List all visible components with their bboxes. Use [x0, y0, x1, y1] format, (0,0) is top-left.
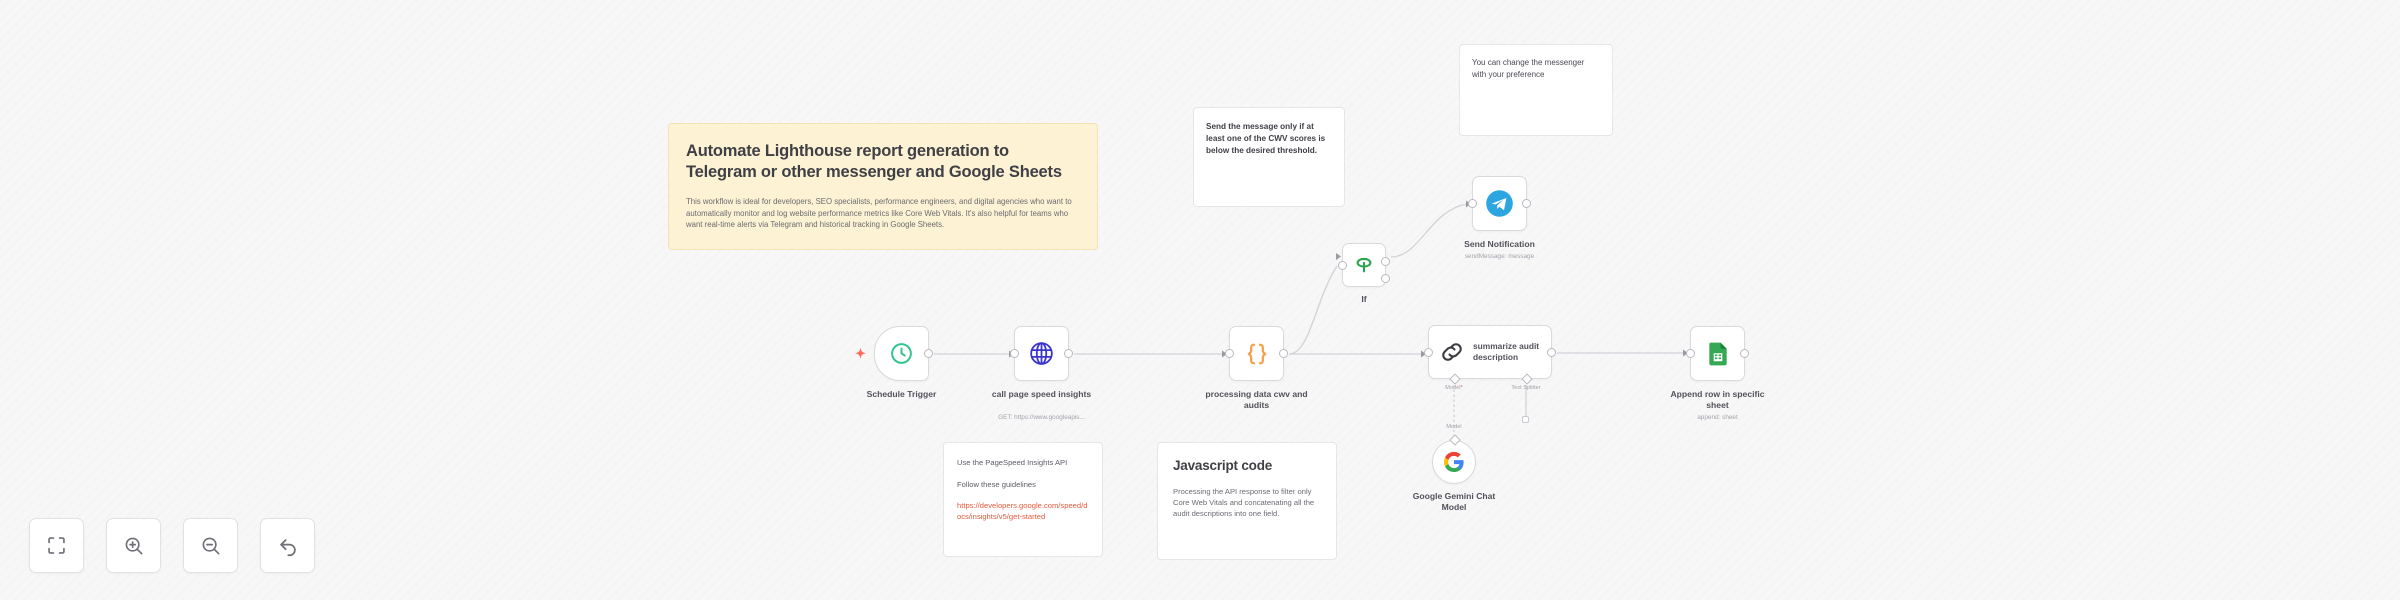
node-send-notification[interactable]: Send Notification sendMessage: message: [1472, 176, 1527, 231]
node-http-subtitle: GET: https://www.googleapis...: [977, 413, 1107, 422]
port-in-if[interactable]: [1338, 261, 1347, 270]
workflow-canvas[interactable]: Automate Lighthouse report generation to…: [0, 0, 2400, 600]
node-schedule-trigger[interactable]: Schedule Trigger: [874, 326, 929, 381]
trigger-bolt-icon: ✦: [855, 347, 866, 360]
node-telegram-subtitle: sendMessage: message: [1465, 252, 1534, 261]
google-g-icon: [1443, 451, 1465, 473]
node-http-request[interactable]: call page speed insights GET: https://ww…: [1014, 326, 1069, 381]
telegram-icon: [1485, 189, 1514, 218]
sticky-note-pagespeed[interactable]: Use the PageSpeed Insights API Follow th…: [943, 442, 1103, 557]
port-out-schedule[interactable]: [924, 349, 933, 358]
zoom-out-icon: [200, 535, 222, 557]
canvas-toolbar[interactable]: [29, 518, 315, 573]
sticky-note-threshold[interactable]: Send the message only if at least one of…: [1193, 107, 1345, 207]
google-sheets-icon: [1705, 341, 1731, 367]
note-javascript-body: Processing the API response to filter on…: [1173, 486, 1321, 519]
note-pagespeed-line2: Follow these guidelines: [957, 479, 1089, 490]
port-in-code[interactable]: [1225, 349, 1234, 358]
note-messenger-body: You can change the messenger with your p…: [1472, 57, 1600, 80]
note-overview-title: Automate Lighthouse report generation to…: [686, 141, 1080, 183]
node-code[interactable]: processing data cwv and audits: [1229, 326, 1284, 381]
note-pagespeed-line1: Use the PageSpeed Insights API: [957, 457, 1089, 468]
node-chain-label: summarize audit description: [1473, 341, 1545, 363]
undo-arrow-icon: [277, 535, 299, 557]
zoom-in-icon: [123, 535, 145, 557]
port-in-chain[interactable]: [1424, 348, 1433, 357]
port-out-if-false[interactable]: [1381, 274, 1390, 283]
port-in-telegram[interactable]: [1468, 199, 1477, 208]
chain-link-icon: [1439, 339, 1465, 365]
note-overview-body: This workflow is ideal for developers, S…: [686, 196, 1080, 231]
node-if[interactable]: If: [1342, 243, 1386, 287]
port-out-if-true[interactable]: [1381, 257, 1390, 266]
zoom-out-button[interactable]: [183, 518, 238, 573]
port-out-http[interactable]: [1064, 349, 1073, 358]
sticky-note-messenger[interactable]: You can change the messenger with your p…: [1459, 44, 1613, 136]
port-label-gemini-model: Model: [1446, 424, 1461, 430]
node-gemini-label: Google Gemini Chat Model: [1406, 491, 1502, 513]
node-sheets-subtitle: append: sheet: [1697, 413, 1738, 422]
node-google-gemini-chat-model[interactable]: Google Gemini Chat Model: [1432, 440, 1476, 484]
port-out-sheets[interactable]: [1740, 349, 1749, 358]
fit-to-view-button[interactable]: [29, 518, 84, 573]
node-telegram-label: Send Notification: [1464, 239, 1535, 250]
port-tool-stub-icon[interactable]: [1522, 416, 1529, 423]
port-out-chain[interactable]: [1547, 348, 1556, 357]
note-threshold-title: Send the message only if at least one of…: [1206, 121, 1332, 157]
clock-icon: [889, 341, 914, 366]
filter-branch-icon: [1353, 254, 1375, 276]
globe-icon: [1028, 340, 1055, 367]
sticky-note-javascript[interactable]: Javascript code Processing the API respo…: [1157, 442, 1337, 560]
port-in-http[interactable]: [1010, 349, 1019, 358]
node-http-label: call page speed insights: [982, 389, 1102, 400]
port-out-telegram[interactable]: [1522, 199, 1531, 208]
note-javascript-title: Javascript code: [1173, 457, 1321, 474]
fit-to-view-icon: [46, 535, 67, 556]
port-label-model: Model*: [1445, 385, 1462, 391]
reset-zoom-button[interactable]: [260, 518, 315, 573]
node-sheets-label: Append row in specific sheet: [1660, 389, 1775, 411]
node-summarize-chain[interactable]: summarize audit description: [1428, 325, 1552, 379]
sticky-note-overview[interactable]: Automate Lighthouse report generation to…: [668, 123, 1098, 250]
code-braces-icon: [1244, 341, 1270, 367]
port-in-sheets[interactable]: [1686, 349, 1695, 358]
note-pagespeed-link[interactable]: https://developers.google.com/speed/docs…: [957, 501, 1089, 522]
node-if-label: If: [1361, 294, 1366, 305]
node-code-label: processing data cwv and audits: [1197, 389, 1317, 411]
port-label-tool: Text Splitter: [1511, 385, 1540, 391]
node-google-sheets-append[interactable]: Append row in specific sheet append: she…: [1690, 326, 1745, 381]
zoom-in-button[interactable]: [106, 518, 161, 573]
node-schedule-label: Schedule Trigger: [867, 389, 937, 400]
port-out-code[interactable]: [1279, 349, 1288, 358]
